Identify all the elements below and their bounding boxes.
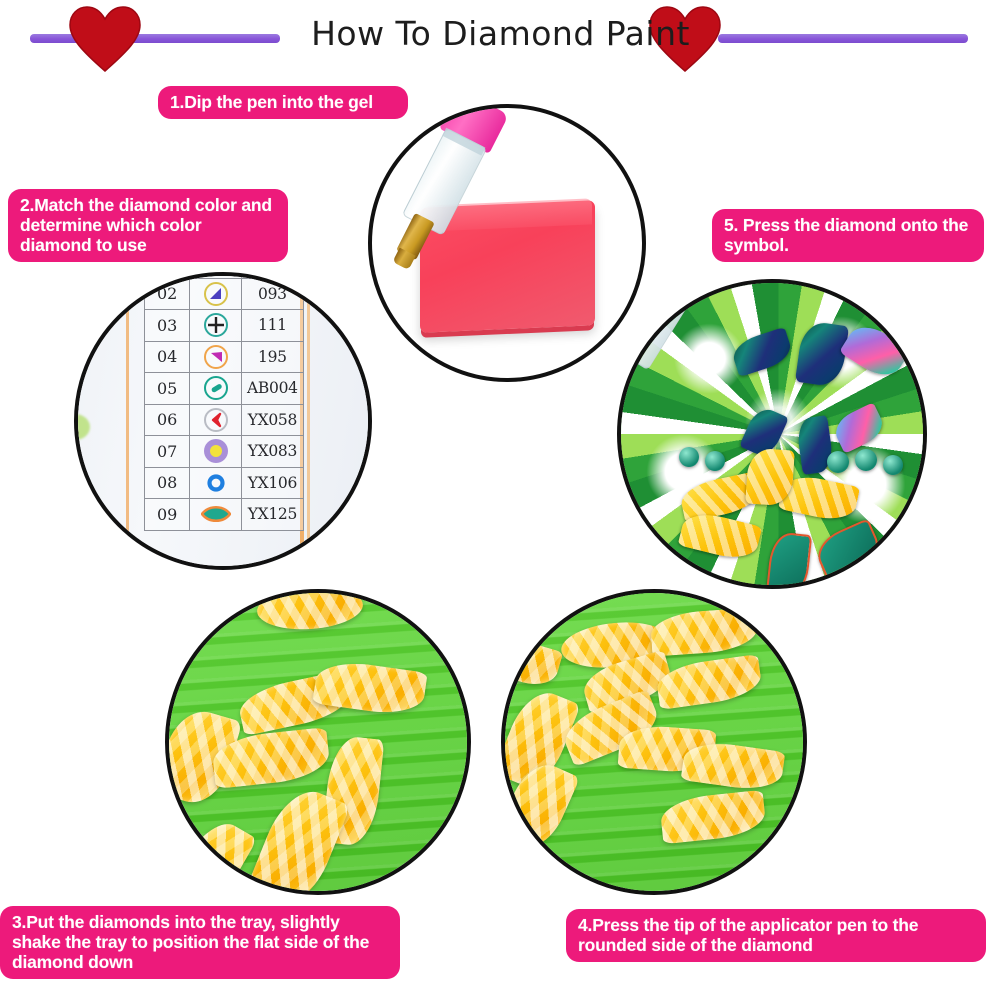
step-4-photo	[501, 589, 807, 895]
canvas-gem	[705, 451, 725, 471]
blue-triangle-icon	[204, 282, 228, 306]
yellow-dot-ring-icon	[204, 439, 228, 463]
plus-cross-icon	[204, 313, 228, 337]
table-row: 07 YX083	[145, 436, 304, 468]
teal-capsule-icon	[204, 376, 228, 400]
legend-table: 01 028 02	[144, 272, 304, 531]
pen-picking-up-diamond	[505, 593, 803, 891]
legend-symbol	[190, 499, 242, 531]
legend-code: YX083	[241, 436, 303, 468]
legend-number: 07	[145, 436, 190, 468]
table-row: 09 YX125	[145, 499, 304, 531]
placing-diamond-on-canvas	[621, 283, 923, 585]
legend-number: 03	[145, 310, 190, 342]
legend-code: YX125	[241, 499, 303, 531]
table-row: 08 YX106	[145, 467, 304, 499]
step-5-label: 5. Press the diamond onto the symbol.	[712, 209, 984, 262]
legend-code: YX058	[241, 404, 303, 436]
blue-donut-icon	[204, 471, 228, 495]
table-row: 03 111	[145, 310, 304, 342]
table-row: 04 195	[145, 341, 304, 373]
legend-number: 09	[145, 499, 190, 531]
legend-symbol	[190, 436, 242, 468]
legend-code: 093	[241, 278, 303, 310]
legend-code: 195	[241, 341, 303, 373]
table-row: 05 AB004	[145, 373, 304, 405]
step-2-label: 2.Match the diamond color and determine …	[8, 189, 288, 262]
step-4-label: 4.Press the tip of the applicator pen to…	[566, 909, 986, 962]
step-1-label: 1.Dip the pen into the gel	[158, 86, 408, 119]
color-symbol-legend-chart: 01 028 02	[78, 276, 368, 566]
teal-leaf-icon	[201, 504, 231, 524]
pen-dipping-into-gel-pad	[372, 108, 642, 378]
legend-symbol	[190, 278, 242, 310]
magenta-triangle-icon	[204, 345, 228, 369]
page-title: How To Diamond Paint	[0, 14, 1001, 53]
legend-code: AB004	[241, 373, 303, 405]
yellow-diamonds-in-green-tray	[169, 593, 467, 891]
legend-code: YX106	[241, 467, 303, 499]
legend-number: 04	[145, 341, 190, 373]
legend-code: 111	[241, 310, 303, 342]
legend-number: 06	[145, 404, 190, 436]
pen-nib	[617, 378, 619, 401]
canvas-gem	[883, 455, 903, 475]
canvas-gem	[827, 451, 849, 473]
canvas-gem	[855, 449, 877, 471]
canvas-gem	[679, 447, 699, 467]
page-header: How To Diamond Paint	[0, 0, 1001, 72]
step-1-photo	[368, 104, 646, 382]
legend-number: 02	[145, 278, 190, 310]
purple-circle-eyes-icon	[204, 272, 228, 274]
legend-symbol	[190, 404, 242, 436]
step-2-photo: 01 028 02	[74, 272, 372, 570]
legend-number: 08	[145, 467, 190, 499]
legend-symbol	[190, 310, 242, 342]
chart-margin-stripe	[307, 272, 310, 570]
step-3-label: 3.Put the diamonds into the tray, slight…	[0, 906, 400, 979]
legend-number: 05	[145, 373, 190, 405]
red-chevron-left-icon	[204, 408, 228, 432]
table-row: 02 093	[145, 278, 304, 310]
step-5-photo	[617, 279, 927, 589]
legend-symbol	[190, 373, 242, 405]
step-3-photo	[165, 589, 471, 895]
legend-symbol	[190, 467, 242, 499]
chart-margin-stripe	[126, 272, 129, 570]
table-row: 06 YX058	[145, 404, 304, 436]
legend-symbol	[190, 341, 242, 373]
